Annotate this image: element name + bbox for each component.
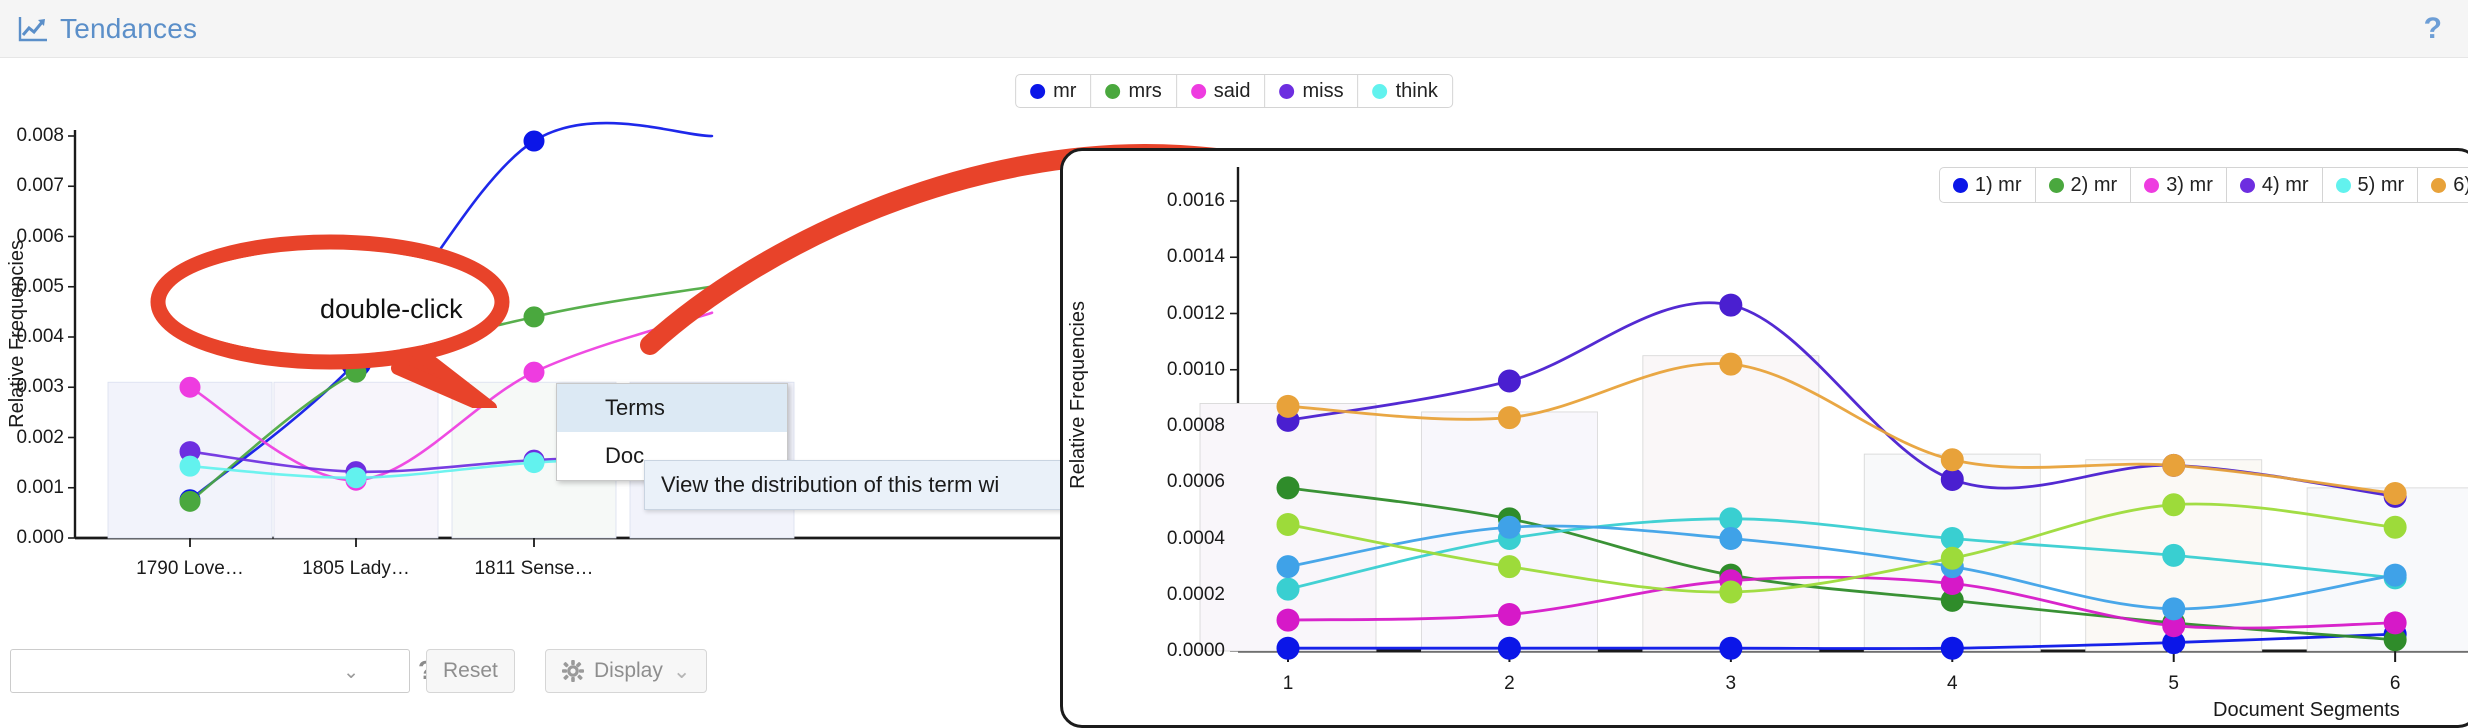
y-tick-label: 0.000: [0, 527, 64, 549]
header-left: Tendances: [0, 13, 197, 45]
legend-swatch-icon: [1105, 84, 1120, 99]
y-tick-label: 0.0008: [1091, 415, 1225, 437]
legend-item-1[interactable]: mrs: [1091, 75, 1176, 107]
x-tick-label: 1805 Lady…: [261, 558, 451, 580]
bottom-toolbar: ⌄ ? Reset Display ⌄: [0, 649, 2468, 695]
legend-item-4[interactable]: think: [1359, 75, 1452, 107]
app-header: Tendances ?: [0, 0, 2468, 58]
legend-label: 2) mr: [2071, 174, 2118, 197]
display-label: Display: [594, 659, 663, 683]
legend-swatch-icon: [2144, 178, 2159, 193]
right-legend-item-2[interactable]: 3) mr: [2131, 168, 2227, 202]
tooltip-text: View the distribution of this term wi: [661, 472, 999, 498]
legend-label: mrs: [1128, 80, 1161, 103]
search-input[interactable]: [11, 650, 351, 690]
y-tick-label: 0.0006: [1091, 471, 1225, 493]
right-legend-item-0[interactable]: 1) mr: [1940, 168, 2036, 202]
legend-swatch-icon: [1191, 84, 1206, 99]
legend-swatch-icon: [1030, 84, 1045, 99]
reset-button[interactable]: Reset: [426, 649, 515, 693]
tooltip: View the distribution of this term wi: [644, 460, 1070, 510]
y-tick-label: 0.008: [0, 125, 64, 147]
y-tick-label: 0.0010: [1091, 359, 1225, 381]
legend-label: 6): [2453, 174, 2468, 197]
legend-item-3[interactable]: miss: [1266, 75, 1359, 107]
y-tick-label: 0.002: [0, 427, 64, 449]
legend-label: 4) mr: [2262, 174, 2309, 197]
y-tick-label: 0.0002: [1091, 584, 1225, 606]
y-tick-label: 0.006: [0, 226, 64, 248]
legend-swatch-icon: [2431, 178, 2446, 193]
legend-swatch-icon: [2336, 178, 2351, 193]
main-chart-legend: mrmrssaidmissthink: [1015, 74, 1453, 108]
y-tick-label: 0.0012: [1091, 303, 1225, 325]
y-tick-label: 0.003: [0, 376, 64, 398]
legend-item-2[interactable]: said: [1177, 75, 1266, 107]
x-tick-label: 1790 Love…: [95, 558, 285, 580]
display-button[interactable]: Display ⌄: [545, 649, 707, 693]
x-tick-label: 1811 Sense…: [439, 558, 629, 580]
legend-item-0[interactable]: mr: [1016, 75, 1091, 107]
legend-label: 1) mr: [1975, 174, 2022, 197]
legend-swatch-icon: [2240, 178, 2255, 193]
y-tick-label: 0.005: [0, 276, 64, 298]
right-chart-plot[interactable]: [1063, 151, 2468, 728]
context-menu-item-0[interactable]: Terms: [557, 384, 787, 432]
right-legend-item-3[interactable]: 4) mr: [2227, 168, 2323, 202]
right-chart-x-axis-title: Document Segments: [2213, 699, 2400, 722]
term-search-box[interactable]: ⌄: [10, 649, 410, 693]
right-legend-item-1[interactable]: 2) mr: [2036, 168, 2132, 202]
y-tick-label: 0.001: [0, 477, 64, 499]
legend-label: 3) mr: [2166, 174, 2213, 197]
right-legend-item-4[interactable]: 5) mr: [2323, 168, 2419, 202]
legend-swatch-icon: [1373, 84, 1388, 99]
chevron-down-icon: ⌄: [673, 659, 691, 684]
legend-label: think: [1396, 80, 1438, 103]
gear-icon: [562, 660, 584, 682]
y-tick-label: 0.0016: [1091, 190, 1225, 212]
legend-swatch-icon: [1953, 178, 1968, 193]
y-tick-label: 0.004: [0, 326, 64, 348]
legend-swatch-icon: [1280, 84, 1295, 99]
help-icon[interactable]: ?: [2424, 14, 2442, 44]
chevron-down-icon[interactable]: ⌄: [343, 661, 359, 684]
left-trend-chart[interactable]: Relative Frequencies 0.0000.0010.0020.00…: [0, 120, 1130, 640]
right-chart-legend: 1) mr2) mr3) mr4) mr5) mr6): [1939, 167, 2468, 203]
right-chart-y-axis-title: Relative Frequencies: [1067, 301, 1090, 489]
reset-label: Reset: [443, 659, 498, 683]
legend-label: 5) mr: [2358, 174, 2405, 197]
page-title: Tendances: [60, 13, 197, 45]
y-tick-label: 0.0014: [1091, 246, 1225, 268]
right-legend-item-5[interactable]: 6): [2418, 168, 2468, 202]
legend-swatch-icon: [2049, 178, 2064, 193]
legend-label: said: [1214, 80, 1251, 103]
legend-label: mr: [1053, 80, 1076, 103]
line-chart-icon: [18, 15, 48, 43]
legend-label: miss: [1303, 80, 1344, 103]
document-segments-panel[interactable]: Relative Frequencies 0.00000.00020.00040…: [1060, 148, 2468, 728]
y-tick-label: 0.007: [0, 175, 64, 197]
y-tick-label: 0.0004: [1091, 528, 1225, 550]
